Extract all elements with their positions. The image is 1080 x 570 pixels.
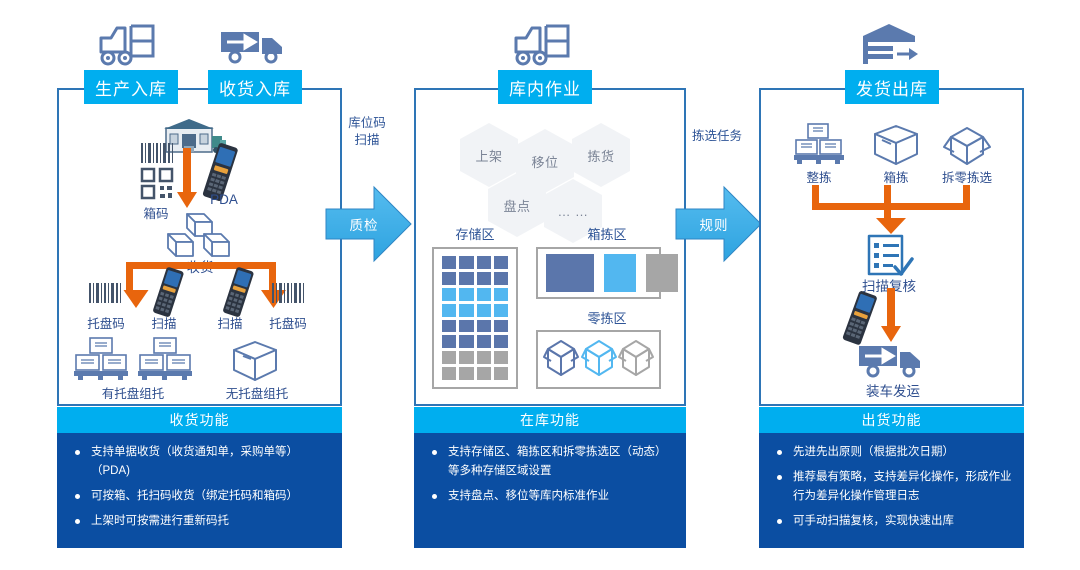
- pallet-stack-icon-outbound: [793, 122, 845, 166]
- label-piece-pick-zone: 零拣区: [552, 308, 662, 327]
- case-pick-cells: [546, 254, 678, 292]
- pallet-stack-icon-b: [137, 336, 193, 380]
- warehouse-out-icon: [861, 22, 923, 68]
- label-without-pallet: 无托盘组托: [190, 383, 324, 402]
- open-box-row: [543, 337, 655, 383]
- chip-shipping-outbound[interactable]: 发货出库: [845, 70, 939, 104]
- footer-outbound: 出货功能 先进先出原则（根据批次日期） 推荐最有策略，支持差异化操作，形成作业行…: [759, 407, 1024, 548]
- chip-label: 收货入库: [219, 75, 291, 100]
- arrow-down-to-receive: [176, 148, 198, 210]
- footer-body: 先进先出原则（根据批次日期） 推荐最有策略，支持差异化操作，形成作业行为差异化操…: [759, 433, 1024, 548]
- footer-item: 上架时可按需进行重新码托: [67, 512, 330, 531]
- label-storage-zone: 存储区: [430, 224, 520, 243]
- footer-item: 可手动扫描复核，实现快速出库: [769, 512, 1012, 531]
- footer-item: 支持盘点、移位等库内标准作业: [424, 487, 674, 506]
- pallet-stack-icon-a: [73, 336, 129, 380]
- footer-title: 出货功能: [759, 407, 1024, 433]
- chip-label: 发货出库: [856, 75, 928, 100]
- pda-icon-left: [148, 266, 188, 320]
- footer-item: 支持存储区、箱拣区和拆零拣选区（动态）等多种存储区域设置: [424, 443, 674, 481]
- footer-item: 推荐最有策略，支持差异化操作，形成作业行为差异化操作管理日志: [769, 468, 1012, 506]
- open-box-icon-outbound: [941, 124, 993, 168]
- barcode-icon-left: [88, 283, 122, 303]
- forklift-icon: [95, 22, 159, 68]
- connector-2-arrow: 规则: [676, 183, 762, 265]
- label-pda: PDA: [196, 192, 252, 207]
- merge-arrows-outbound: [812, 185, 970, 235]
- footer-item: 支持单据收货（收货通知单，采购单等）（PDA): [67, 443, 330, 481]
- forklift-icon-inhouse: [510, 22, 574, 68]
- label-case-pick-zone: 箱拣区: [552, 224, 662, 243]
- label-with-pallet: 有托盘组托: [66, 383, 200, 402]
- connector-2-caption: 拣选任务: [674, 128, 760, 145]
- hex-pick[interactable]: 拣货: [572, 123, 630, 187]
- storage-grid: [442, 256, 508, 380]
- chip-label: 生产入库: [95, 75, 167, 100]
- label-pallet-code-right: 托盘码: [260, 313, 316, 332]
- footer-inhouse: 在库功能 支持存储区、箱拣区和拆零拣选区（动态）等多种存储区域设置 支持盘点、移…: [414, 407, 686, 548]
- chip-inhouse-operation[interactable]: 库内作业: [498, 70, 592, 104]
- barcode-icon-right: [271, 283, 305, 303]
- barcode-qr-icon: [140, 143, 174, 199]
- arrow-down-to-ship: [880, 288, 902, 344]
- truck-icon-outbound: [857, 340, 927, 380]
- chip-receiving-inbound[interactable]: 收货入库: [208, 70, 302, 104]
- connector-1-arrow: 质检: [326, 183, 412, 265]
- footer-title: 在库功能: [414, 407, 686, 433]
- label-pallet-code-left: 托盘码: [78, 313, 134, 332]
- label-scan-right: 扫描: [202, 313, 258, 332]
- closed-box-icon-outbound: [872, 124, 920, 166]
- footer-item: 可按箱、托扫码收货（绑定托码和箱码）: [67, 487, 330, 506]
- label-piece-pick: 拆零拣选: [925, 167, 1009, 186]
- chip-label: 库内作业: [509, 75, 581, 100]
- label-load-and-ship: 装车发运: [853, 380, 933, 400]
- footer-item: 先进先出原则（根据批次日期）: [769, 443, 1012, 462]
- label-scan-left: 扫描: [136, 313, 192, 332]
- footer-title: 收货功能: [57, 407, 342, 433]
- footer-inbound: 收货功能 支持单据收货（收货通知单，采购单等）（PDA) 可按箱、托扫码收货（绑…: [57, 407, 342, 548]
- diagram-canvas: 生产入库 收货入库: [0, 0, 1080, 570]
- pda-icon-right: [218, 266, 258, 320]
- chip-production-inbound[interactable]: 生产入库: [84, 70, 178, 104]
- truck-icon: [219, 26, 289, 66]
- footer-body: 支持单据收货（收货通知单，采购单等）（PDA) 可按箱、托扫码收货（绑定托码和箱…: [57, 433, 342, 548]
- label-case-pick: 箱拣: [866, 167, 926, 186]
- footer-body: 支持存储区、箱拣区和拆零拣选区（动态）等多种存储区域设置 支持盘点、移位等库内标…: [414, 433, 686, 548]
- label-full-pallet-pick: 整拣: [789, 167, 849, 186]
- connector-1-caption: 库位码 扫描: [330, 115, 404, 149]
- hexagon-cluster: 上架 移位 拣货 盘点 … …: [460, 123, 638, 219]
- checklist-icon: [862, 234, 914, 280]
- closed-box-icon-inbound: [231, 340, 279, 382]
